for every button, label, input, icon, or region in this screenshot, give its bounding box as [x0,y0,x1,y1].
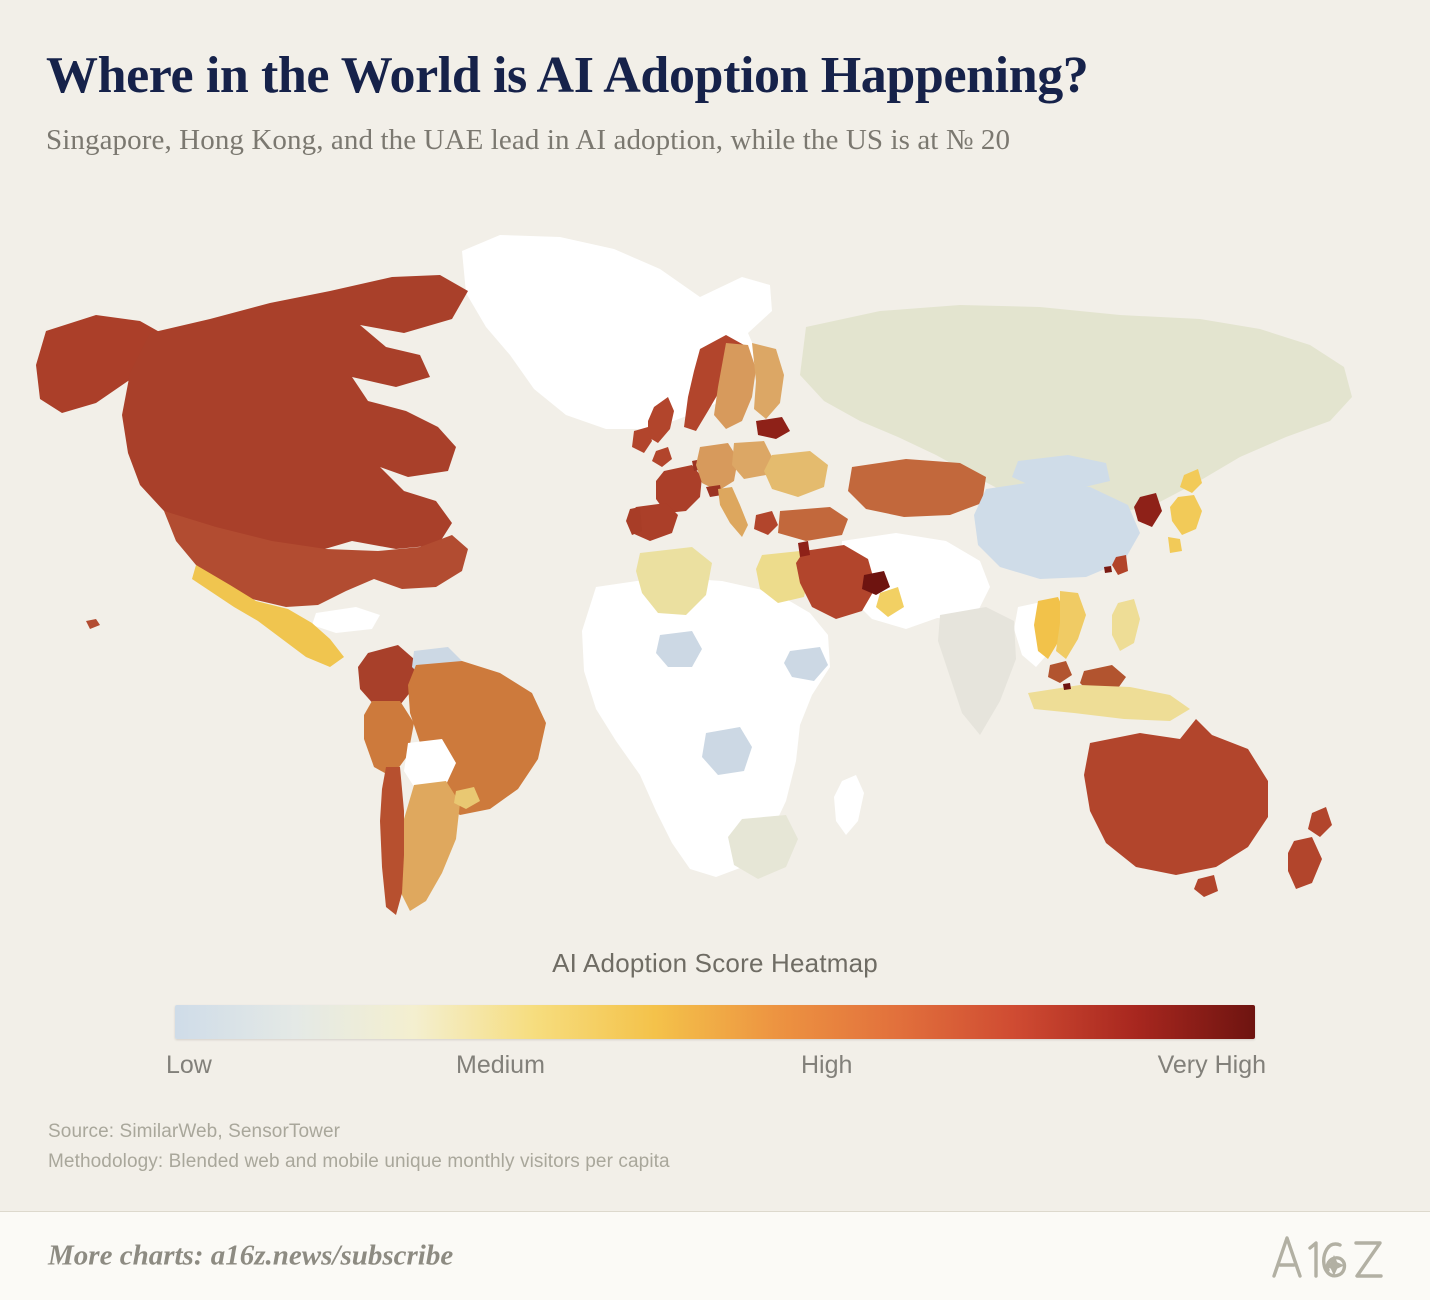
region-india [938,607,1016,735]
legend-gradient-bar [175,1005,1255,1039]
region-israel [798,541,810,557]
region-turkey [778,507,848,541]
region-singapore [1063,683,1071,690]
region-vietnam [1056,591,1086,659]
region-philippines [1112,599,1140,651]
region-greece [754,511,778,535]
region-madagascar-nodata [834,775,864,835]
region-indonesia [1028,685,1190,721]
map-region-group-north-america [36,275,468,667]
legend-label-high: High [801,1051,852,1080]
legend-title: AI Adoption Score Heatmap [0,948,1430,979]
region-argentina [400,781,460,911]
a16z-logo[interactable] [1268,1232,1386,1280]
region-australia [1084,719,1268,875]
region-finland [752,343,784,419]
region-ireland [632,427,652,453]
world-choropleth-map [0,215,1430,935]
footer: More charts: a16z.news/subscribe [0,1211,1430,1300]
legend: AI Adoption Score Heatmap Low Medium Hig… [0,948,1430,1085]
region-lithuania [756,417,790,439]
region-new-zealand [1288,807,1332,889]
region-canada [122,275,468,553]
page-subtitle: Singapore, Hong Kong, and the UAE lead i… [46,125,1430,157]
footnotes: Source: SimilarWeb, SensorTower Methodol… [48,1117,670,1178]
legend-scale-labels: Low Medium High Very High [156,1051,1274,1085]
legend-label-low: Low [166,1051,212,1080]
header: Where in the World is AI Adoption Happen… [0,0,1430,157]
more-charts-link[interactable]: More charts: a16z.news/subscribe [48,1240,453,1273]
legend-label-medium: Medium [456,1051,545,1080]
a16z-logo-icon [1268,1232,1386,1280]
region-hong-kong [1104,566,1112,573]
region-hawaii [86,619,100,629]
infographic-page: Where in the World is AI Adoption Happen… [0,0,1430,1300]
source-note: Source: SimilarWeb, SensorTower [48,1117,670,1147]
region-caribbean-nodata [312,607,380,633]
methodology-note: Methodology: Blended web and mobile uniq… [48,1147,670,1177]
map-region-group-south-america [358,645,546,915]
region-colombia [358,645,416,707]
region-ukraine [764,451,828,497]
region-chile [380,767,404,915]
region-tasmania [1194,875,1218,897]
legend-label-very-high: Very High [1158,1051,1266,1080]
region-kazakhstan [848,459,986,517]
map-region-group-asia-pacific [974,455,1332,897]
page-title: Where in the World is AI Adoption Happen… [46,48,1430,103]
region-portugal [626,507,642,535]
region-southernafrica-faded [728,815,798,879]
region-germany [696,443,738,491]
map-svg [0,215,1430,935]
region-italy [718,487,748,537]
